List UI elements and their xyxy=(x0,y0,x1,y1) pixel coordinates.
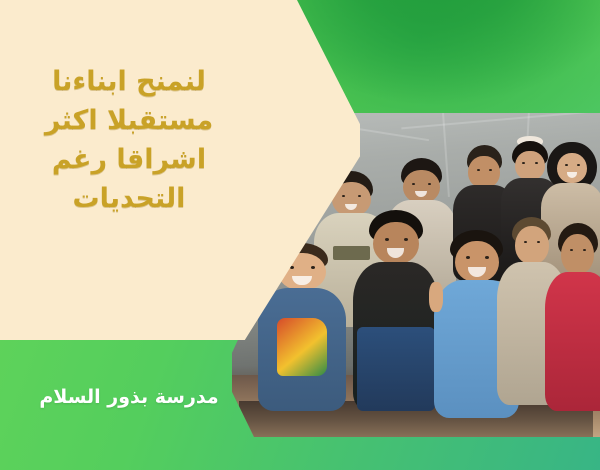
headline-line-1: لنمنح ابناءنا xyxy=(0,62,258,101)
headline: لنمنح ابناءنا مستقبلا اكثر اشراقا رغم ال… xyxy=(0,62,258,218)
tent-seam xyxy=(402,113,593,130)
headline-line-2: مستقبلا اكثر xyxy=(0,101,258,140)
poster-canvas: لنمنح ابناءنا مستقبلا اكثر اشراقا رغم ال… xyxy=(0,0,600,470)
child-figure-front xyxy=(353,210,438,411)
child-figure-front xyxy=(545,223,600,411)
headline-line-4: التحديات xyxy=(0,179,258,218)
headline-line-3: اشراقا رغم xyxy=(0,140,258,179)
school-name: مدرسة بذور السلام xyxy=(0,386,258,408)
